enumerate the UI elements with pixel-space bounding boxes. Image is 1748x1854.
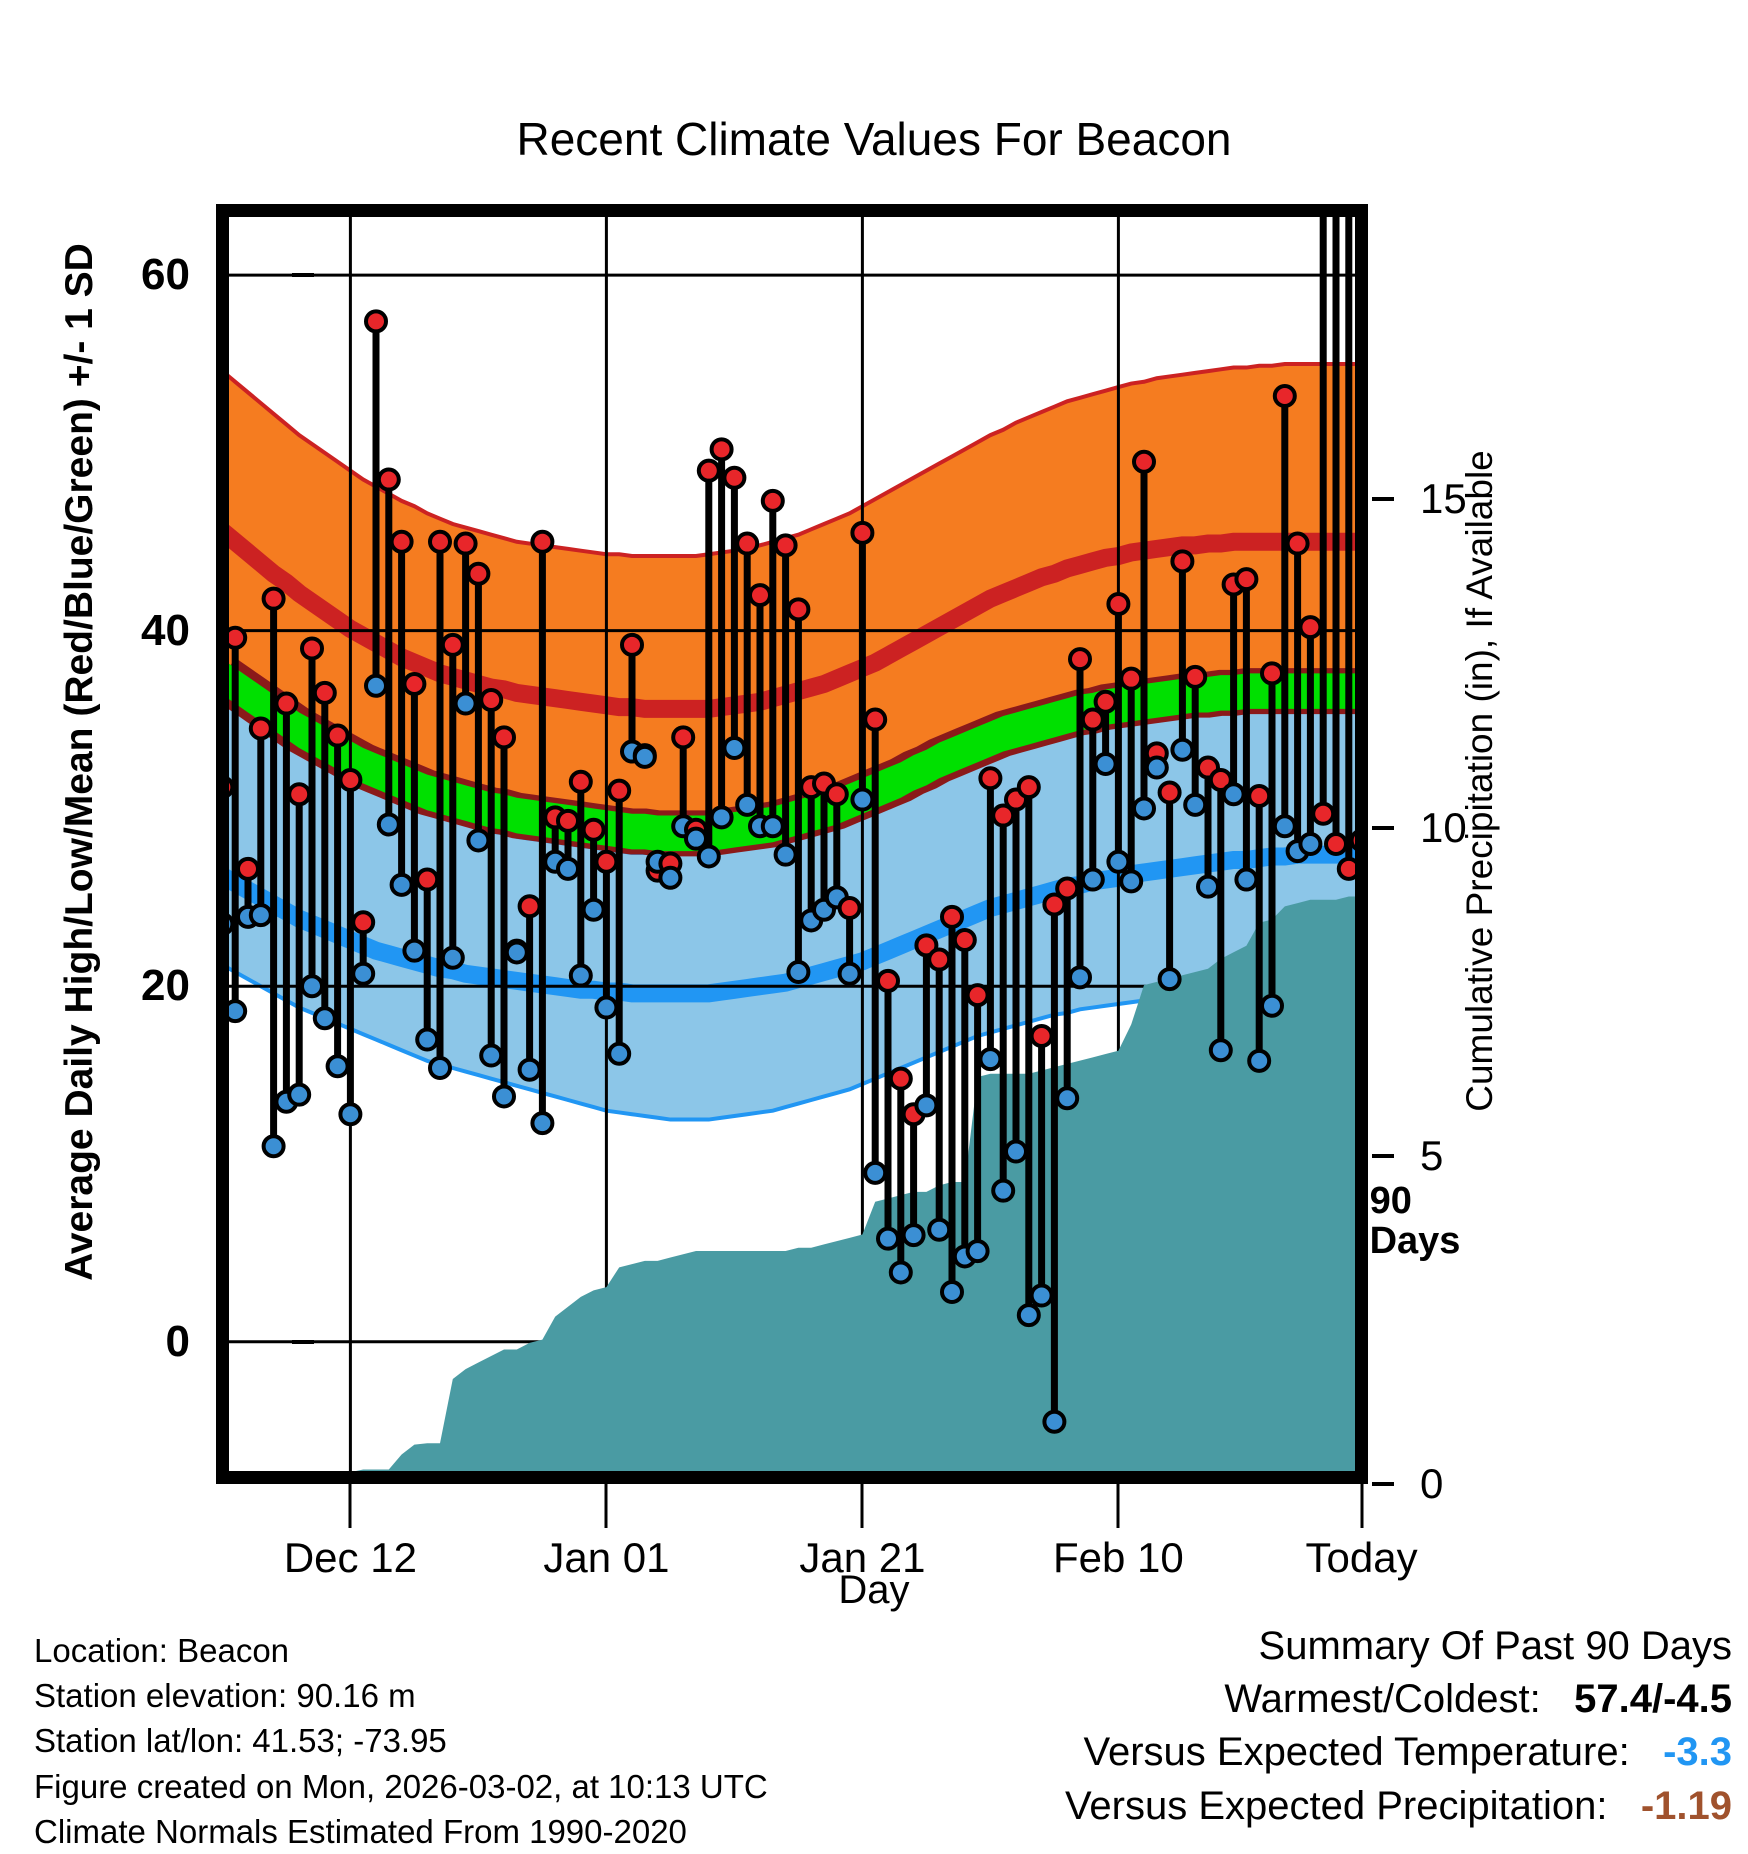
footer-summary: Summary Of Past 90 Days Warmest/Coldest:…: [1065, 1620, 1732, 1833]
location-line: Location: Beacon: [34, 1628, 768, 1673]
page-title: Recent Climate Values For Beacon: [0, 112, 1748, 166]
x-tick-label: Jan 01: [543, 1534, 669, 1582]
created-line: Figure created on Mon, 2026-03-02, at 10…: [34, 1764, 768, 1809]
days-word: Days: [1370, 1222, 1461, 1262]
y-tick-label-right: 15: [1420, 475, 1467, 523]
warmest-coldest-row: Warmest/Coldest: 57.4/-4.5: [1065, 1673, 1732, 1726]
summary-heading: Summary Of Past 90 Days: [1065, 1620, 1732, 1673]
y-tick-label-right: 0: [1420, 1460, 1443, 1508]
x-tick-label: Dec 12: [284, 1534, 417, 1582]
y-tick-mark-right: [1372, 1482, 1394, 1486]
x-tick-mark: [861, 1484, 864, 1528]
days-count: 90: [1370, 1182, 1461, 1222]
ninety-days-annotation: 90 Days: [1370, 1182, 1461, 1262]
normals-line: Climate Normals Estimated From 1990-2020: [34, 1809, 768, 1854]
x-tick-label: Feb 10: [1053, 1534, 1184, 1582]
y-tick-mark-right: [1372, 826, 1394, 830]
x-tick-mark: [605, 1484, 608, 1528]
temp-anomaly-value: -3.3: [1663, 1730, 1732, 1774]
y-tick-label-right: 10: [1420, 804, 1467, 852]
y-axis-ticks-left: 0204060: [100, 204, 190, 1484]
y-tick-mark-right: [1372, 497, 1394, 501]
x-tick-label: Today: [1306, 1534, 1418, 1582]
y-tick-label-left: 40: [141, 606, 190, 656]
temp-anomaly-row: Versus Expected Temperature: -3.3: [1065, 1726, 1732, 1779]
precip-anomaly-label: Versus Expected Precipitation:: [1065, 1784, 1608, 1828]
temp-anomaly-label: Versus Expected Temperature:: [1083, 1730, 1629, 1774]
y-tick-label-right: 5: [1420, 1132, 1443, 1180]
precip-anomaly-row: Versus Expected Precipitation: -1.19: [1065, 1780, 1732, 1833]
warmest-coldest-value: 57.4/-4.5: [1574, 1677, 1732, 1721]
elevation-line: Station elevation: 90.16 m: [34, 1673, 768, 1718]
y-tick-label-left: 20: [141, 961, 190, 1011]
x-tick-mark: [1360, 1484, 1363, 1528]
plot-area: 90 Days: [216, 204, 1368, 1484]
y-axis-label-left: Average Daily High/Low/Mean (Red/Blue/Gr…: [58, 222, 102, 1302]
precip-anomaly-value: -1.19: [1641, 1784, 1732, 1828]
plot-canvas: [216, 204, 1368, 1484]
x-axis-ticks: Dec 12Jan 01Jan 21Feb 10Today: [216, 1484, 1368, 1614]
footer-left: Location: Beacon Station elevation: 90.1…: [34, 1628, 768, 1854]
warmest-coldest-label: Warmest/Coldest:: [1224, 1677, 1540, 1721]
y-tick-label-left: 60: [141, 250, 190, 300]
y-axis-ticks-right: 051015: [1368, 204, 1528, 1484]
climate-figure: Recent Climate Values For Beacon Average…: [0, 0, 1748, 1828]
y-tick-label-left: 0: [166, 1317, 190, 1367]
x-tick-mark: [1117, 1484, 1120, 1528]
x-tick-label: Jan 21: [799, 1534, 925, 1582]
latlon-line: Station lat/lon: 41.53; -73.95: [34, 1718, 768, 1763]
x-tick-mark: [349, 1484, 352, 1528]
y-tick-mark-right: [1372, 1154, 1394, 1158]
